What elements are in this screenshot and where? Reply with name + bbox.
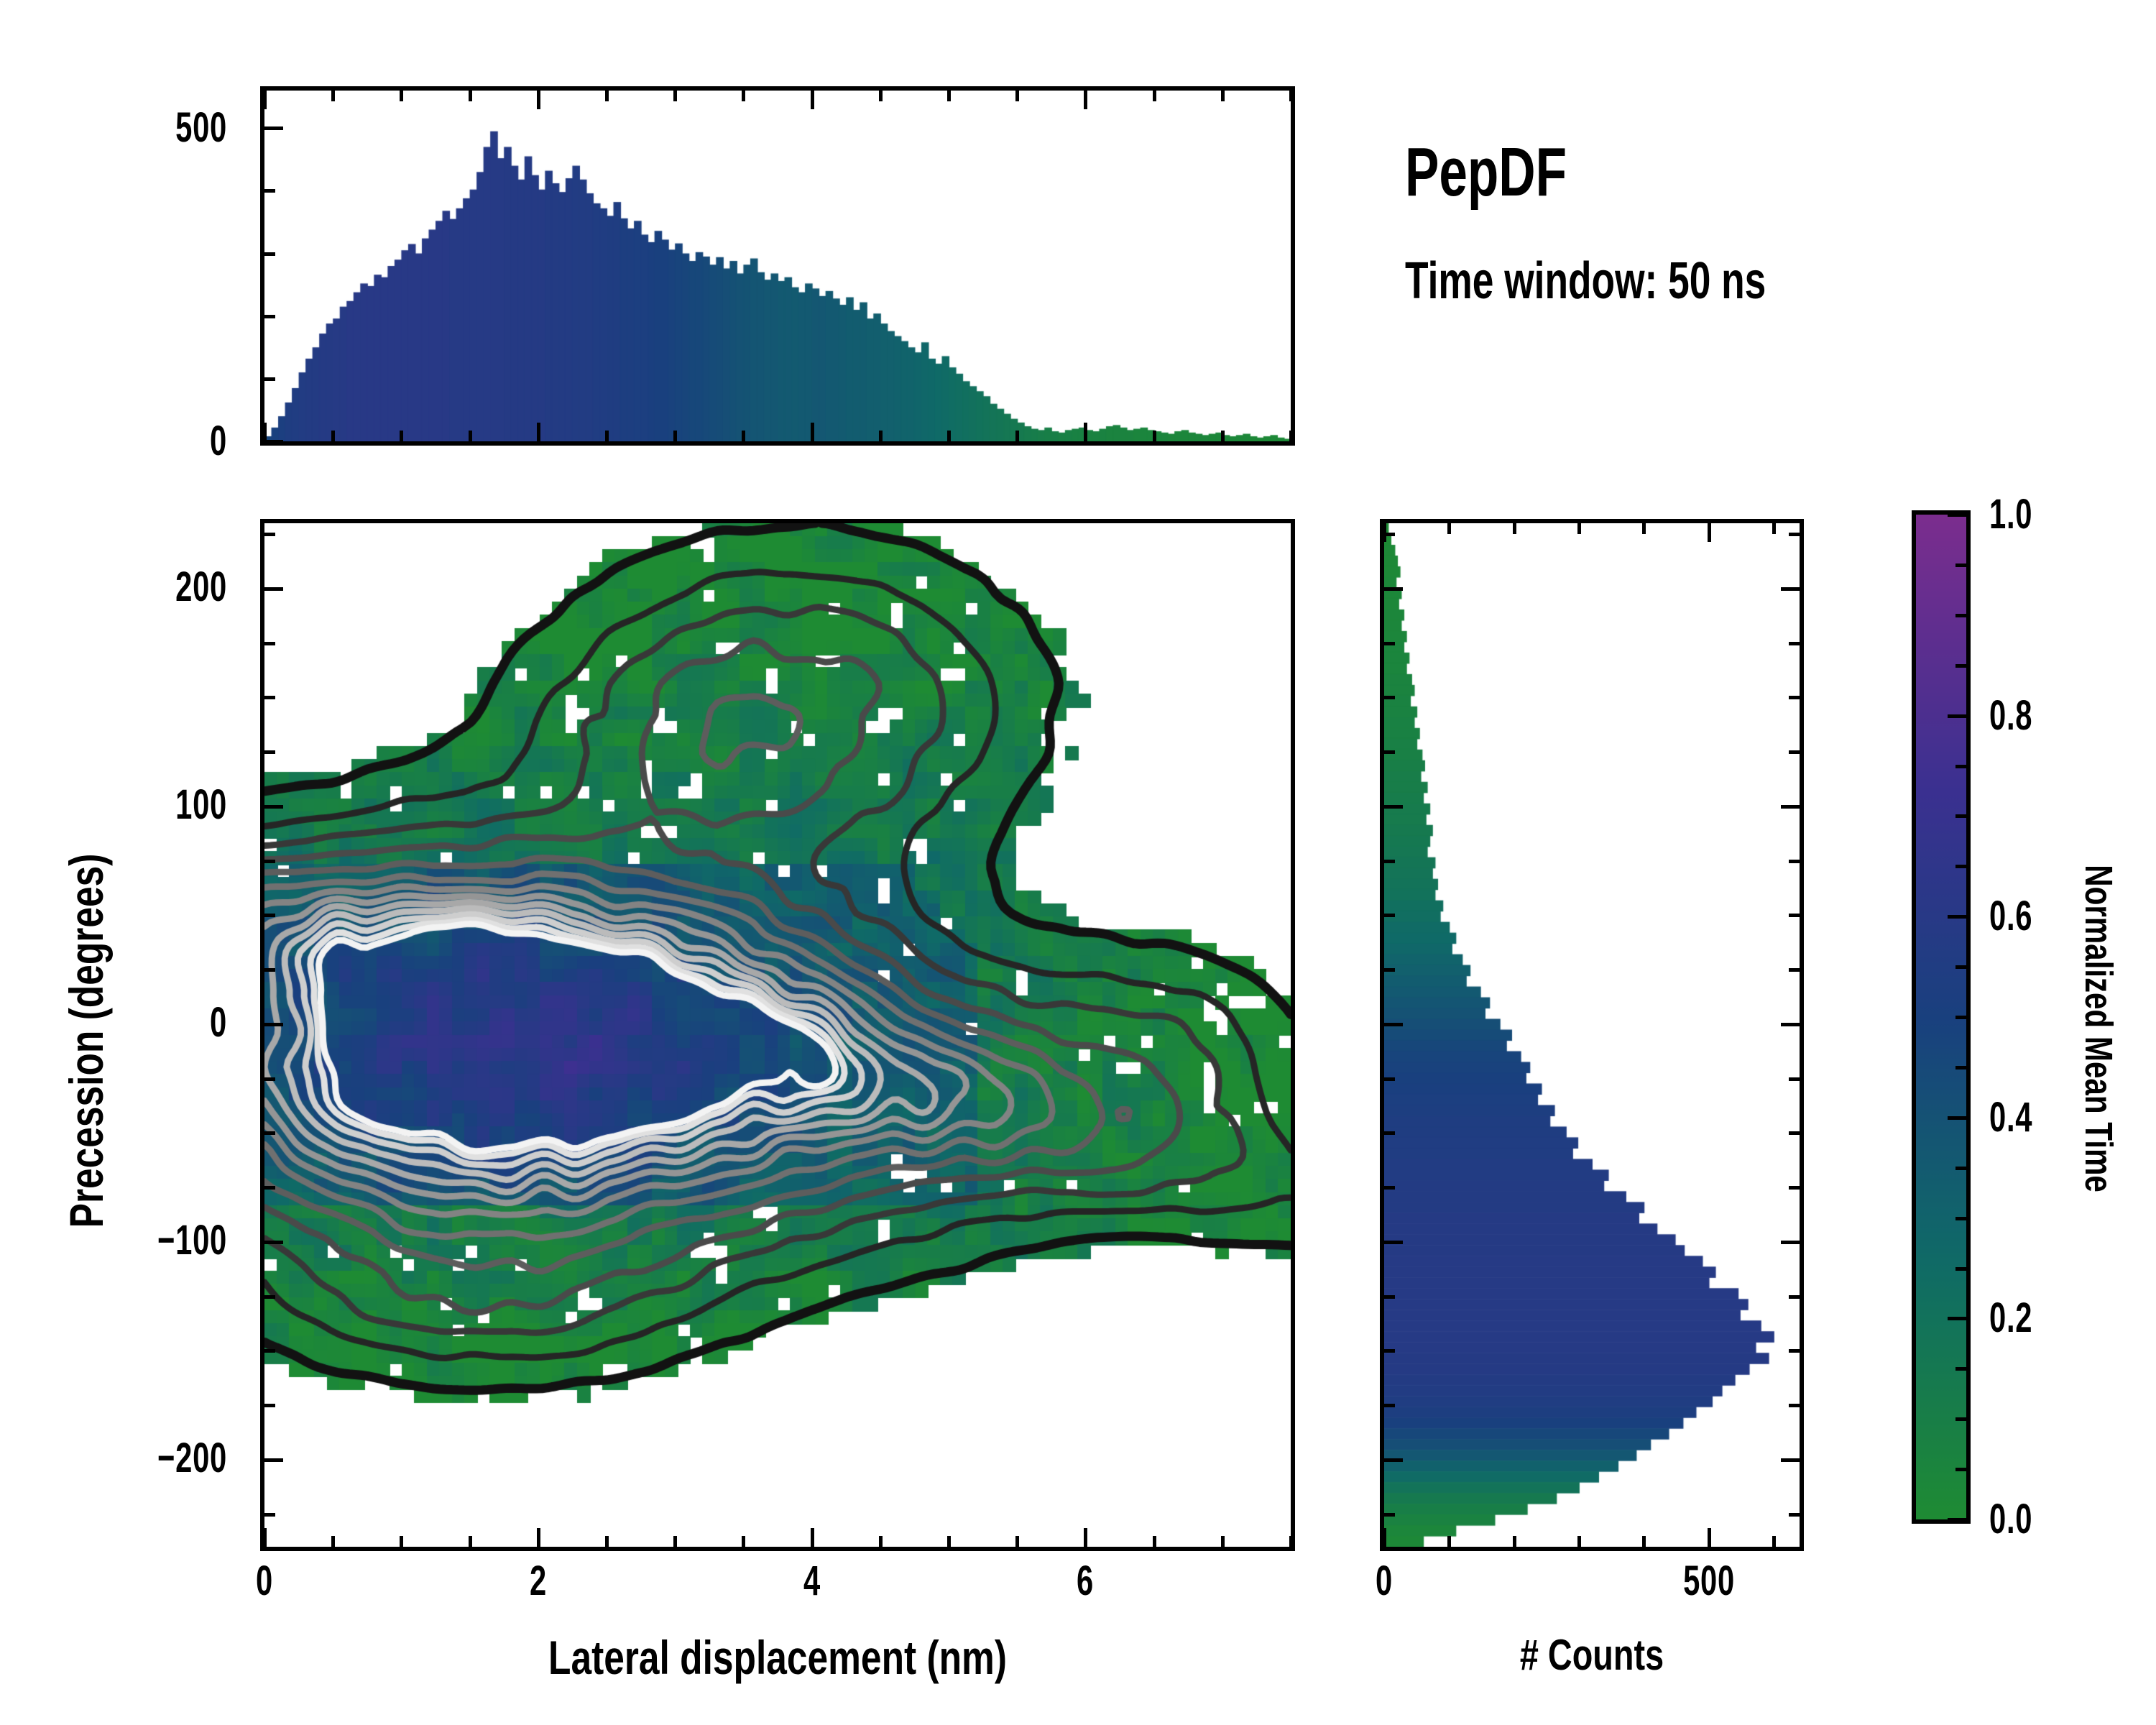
colorbar-minor-tick xyxy=(1955,1367,1966,1371)
top-hist-x-minor-tick xyxy=(1289,431,1293,441)
colorbar-minor-tick xyxy=(1955,765,1966,768)
right-hist-x-minor-tick xyxy=(1447,523,1451,534)
right-hist-y-minor-tick xyxy=(1384,1349,1395,1353)
y-axis-minor-tick xyxy=(264,1077,275,1081)
figure-canvas: 0500 # Counts 0246−200−1000100200 Latera… xyxy=(0,0,2156,1725)
right-hist-x-minor-tick xyxy=(1772,523,1776,534)
right-hist-y-minor-tick xyxy=(1781,587,1800,591)
top-hist-x-major-tick xyxy=(811,423,814,441)
right-hist-x-minor-tick xyxy=(1642,523,1646,534)
top-hist-y-major-tick xyxy=(264,440,283,443)
x-axis-minor-tick xyxy=(400,1536,403,1547)
top-hist-x-major-tick xyxy=(1084,423,1087,441)
right-histogram-plot-area xyxy=(1384,523,1800,1547)
top-marginal-histogram-panel xyxy=(260,86,1295,446)
colorbar-minor-tick xyxy=(1955,1167,1966,1170)
top-hist-x-minor-tick xyxy=(1221,431,1225,441)
right-hist-y-minor-tick xyxy=(1789,696,1800,699)
right-hist-x-tick-label: 0 xyxy=(1322,1557,1447,1605)
colorbar-minor-tick xyxy=(1955,1066,1966,1069)
x-axis-major-tick xyxy=(811,1528,814,1547)
top-hist-y-major-tick xyxy=(264,126,283,130)
top-hist-x-minor-tick xyxy=(469,91,472,101)
right-hist-y-minor-tick xyxy=(1384,696,1395,699)
right-hist-y-major-tick xyxy=(1384,805,1403,809)
x-axis-minor-tick xyxy=(742,1536,745,1547)
right-hist-y-minor-tick xyxy=(1384,1513,1395,1517)
y-axis-minor-tick xyxy=(264,696,275,699)
colorbar-minor-tick xyxy=(1955,614,1966,617)
y-axis-tick-label: 200 xyxy=(51,563,227,611)
top-hist-x-minor-tick xyxy=(605,431,609,441)
colorbar-major-tick xyxy=(1948,915,1966,919)
right-hist-y-minor-tick xyxy=(1789,642,1800,645)
right-hist-y-major-tick xyxy=(1384,587,1403,591)
right-hist-x-minor-tick xyxy=(1772,1536,1776,1547)
top-hist-x-minor-tick xyxy=(947,91,951,101)
top-histogram-plot-area xyxy=(264,91,1291,441)
right-hist-y-minor-tick xyxy=(1384,1077,1395,1081)
right-hist-y-minor-tick xyxy=(1789,1404,1800,1407)
top-hist-x-minor-tick xyxy=(1015,91,1019,101)
colorbar-minor-tick xyxy=(1955,965,1966,969)
top-hist-x-minor-tick xyxy=(400,431,403,441)
x-axis-minor-tick xyxy=(1221,1536,1225,1547)
right-hist-y-minor-tick xyxy=(1781,1241,1800,1244)
right-hist-y-minor-tick xyxy=(1781,805,1800,809)
right-hist-x-minor-tick xyxy=(1577,523,1581,534)
y-axis-major-tick xyxy=(264,805,283,809)
right-hist-y-major-tick xyxy=(1384,1458,1403,1462)
right-hist-x-minor-tick xyxy=(1447,1536,1451,1547)
y-axis-minor-tick xyxy=(264,642,275,645)
y-axis-major-tick xyxy=(264,587,283,591)
y-axis-minor-tick xyxy=(264,968,275,972)
y-axis-minor-tick xyxy=(264,1349,275,1353)
top-hist-x-minor-tick xyxy=(673,431,677,441)
main-y-axis-title: Precession (degrees) xyxy=(59,637,114,1444)
top-hist-x-minor-tick xyxy=(742,91,745,101)
y-axis-minor-tick xyxy=(264,1513,275,1517)
right-hist-y-minor-tick xyxy=(1781,1023,1800,1026)
y-axis-minor-tick xyxy=(264,914,275,917)
x-axis-major-tick xyxy=(537,1528,540,1547)
y-axis-minor-tick xyxy=(264,1131,275,1135)
top-hist-x-minor-tick xyxy=(1289,91,1293,101)
x-axis-minor-tick xyxy=(331,1536,335,1547)
top-hist-x-major-tick xyxy=(263,423,267,441)
y-axis-minor-tick xyxy=(264,1186,275,1190)
colorbar-minor-tick xyxy=(1955,865,1966,868)
colorbar-tick-label: 0.0 xyxy=(1989,1495,2156,1543)
right-hist-y-minor-tick xyxy=(1384,1295,1395,1299)
top-hist-y-tick-label: 500 xyxy=(51,103,227,152)
colorbar-major-tick xyxy=(1948,1116,1966,1120)
colorbar-tick-label: 0.2 xyxy=(1989,1294,2156,1342)
right-hist-y-minor-tick xyxy=(1384,1404,1395,1407)
top-hist-x-minor-tick xyxy=(947,431,951,441)
plot-subtitle-annotation: Time window: 50 ns xyxy=(1405,252,1766,310)
colorbar-minor-tick xyxy=(1955,814,1966,818)
right-hist-y-minor-tick xyxy=(1789,1186,1800,1190)
colorbar-minor-tick xyxy=(1955,563,1966,567)
y-axis-minor-tick xyxy=(264,1295,275,1299)
colorbar-minor-tick xyxy=(1955,1417,1966,1421)
top-hist-x-minor-tick xyxy=(1153,91,1156,101)
colorbar-tick-label: 0.4 xyxy=(1989,1093,2156,1141)
x-axis-minor-tick xyxy=(879,1536,883,1547)
top-hist-x-major-tick xyxy=(1084,91,1087,109)
colorbar-major-tick xyxy=(1948,1317,1966,1320)
top-hist-x-minor-tick xyxy=(1015,431,1019,441)
y-axis-minor-tick xyxy=(264,750,275,754)
plot-title-annotation: PepDF xyxy=(1405,133,1567,212)
colorbar-tick-label: 0.6 xyxy=(1989,892,2156,940)
top-hist-y-minor-tick xyxy=(264,189,275,193)
colorbar-minor-tick xyxy=(1955,664,1966,668)
right-hist-y-minor-tick xyxy=(1384,1186,1395,1190)
x-axis-minor-tick xyxy=(1289,1536,1293,1547)
right-hist-y-minor-tick xyxy=(1384,968,1395,972)
top-hist-x-minor-tick xyxy=(469,431,472,441)
main-heatmap-panel xyxy=(260,519,1295,1551)
colorbar-major-tick xyxy=(1948,513,1966,517)
top-hist-y-minor-tick xyxy=(264,315,275,318)
right-hist-y-minor-tick xyxy=(1384,860,1395,863)
right-hist-y-minor-tick xyxy=(1789,750,1800,754)
x-axis-major-tick xyxy=(263,1528,267,1547)
x-axis-tick-label: 6 xyxy=(1023,1557,1148,1605)
right-hist-y-minor-tick xyxy=(1789,1077,1800,1081)
colorbar-major-tick xyxy=(1948,1518,1966,1522)
y-axis-minor-tick xyxy=(264,533,275,536)
x-axis-major-tick xyxy=(1084,1528,1087,1547)
x-axis-tick-label: 4 xyxy=(750,1557,874,1605)
top-hist-x-minor-tick xyxy=(742,431,745,441)
top-hist-y-tick-label: 0 xyxy=(51,417,227,465)
main-x-axis-title: Lateral displacement (nm) xyxy=(374,1630,1181,1685)
x-axis-minor-tick xyxy=(469,1536,472,1547)
right-hist-y-minor-tick xyxy=(1789,533,1800,536)
colorbar-axis-title: Normalized Mean Time xyxy=(2076,748,2121,1309)
colorbar-minor-tick xyxy=(1955,1267,1966,1271)
top-hist-x-minor-tick xyxy=(1221,91,1225,101)
right-hist-y-minor-tick xyxy=(1789,968,1800,972)
right-hist-y-minor-tick xyxy=(1384,914,1395,917)
right-hist-y-major-tick xyxy=(1384,1023,1403,1026)
right-histogram-x-axis-title: # Counts xyxy=(1427,1630,1757,1680)
right-hist-x-tick-label: 500 xyxy=(1646,1557,1771,1605)
top-hist-x-minor-tick xyxy=(1153,431,1156,441)
x-axis-tick-label: 2 xyxy=(476,1557,600,1605)
x-axis-tick-label: 0 xyxy=(203,1557,327,1605)
right-hist-y-minor-tick xyxy=(1789,1131,1800,1135)
colorbar-minor-tick xyxy=(1955,1217,1966,1220)
right-marginal-histogram-panel xyxy=(1380,519,1804,1551)
top-hist-x-minor-tick xyxy=(605,91,609,101)
right-hist-y-minor-tick xyxy=(1384,533,1395,536)
top-hist-x-minor-tick xyxy=(331,431,335,441)
top-hist-x-major-tick xyxy=(537,423,540,441)
top-hist-x-minor-tick xyxy=(879,431,883,441)
right-hist-y-minor-tick xyxy=(1789,1513,1800,1517)
y-axis-minor-tick xyxy=(264,860,275,863)
colorbar-minor-tick xyxy=(1955,1016,1966,1019)
top-hist-x-major-tick xyxy=(811,91,814,109)
right-hist-x-minor-tick xyxy=(1513,523,1516,534)
colorbar-tick-label: 0.8 xyxy=(1989,691,2156,740)
top-hist-x-major-tick xyxy=(537,91,540,109)
main-heatmap-plot-area xyxy=(264,523,1291,1547)
y-axis-major-tick xyxy=(264,1458,283,1462)
colorbar-major-tick xyxy=(1948,714,1966,718)
right-hist-x-minor-tick xyxy=(1577,1536,1581,1547)
right-hist-y-minor-tick xyxy=(1789,1349,1800,1353)
y-axis-major-tick xyxy=(264,1023,283,1026)
x-axis-minor-tick xyxy=(1153,1536,1156,1547)
colorbar-tick-label: 1.0 xyxy=(1989,490,2156,538)
top-hist-x-minor-tick xyxy=(331,91,335,101)
right-hist-y-minor-tick xyxy=(1789,1295,1800,1299)
x-axis-minor-tick xyxy=(1015,1536,1019,1547)
y-axis-major-tick xyxy=(264,1241,283,1244)
right-hist-y-minor-tick xyxy=(1384,642,1395,645)
right-hist-x-minor-tick xyxy=(1513,1536,1516,1547)
right-hist-y-minor-tick xyxy=(1789,914,1800,917)
colorbar-minor-tick xyxy=(1955,1468,1966,1471)
right-hist-y-minor-tick xyxy=(1781,1458,1800,1462)
right-hist-y-minor-tick xyxy=(1789,860,1800,863)
right-hist-x-major-tick xyxy=(1708,1528,1711,1547)
right-hist-x-major-tick xyxy=(1708,523,1711,542)
x-axis-minor-tick xyxy=(947,1536,951,1547)
top-hist-x-minor-tick xyxy=(400,91,403,101)
x-axis-minor-tick xyxy=(605,1536,609,1547)
top-hist-x-minor-tick xyxy=(879,91,883,101)
top-hist-x-minor-tick xyxy=(673,91,677,101)
right-hist-y-minor-tick xyxy=(1384,750,1395,754)
right-hist-x-minor-tick xyxy=(1642,1536,1646,1547)
right-hist-y-major-tick xyxy=(1384,1241,1403,1244)
x-axis-minor-tick xyxy=(673,1536,677,1547)
right-hist-y-minor-tick xyxy=(1384,1131,1395,1135)
right-hist-x-major-tick xyxy=(1383,1528,1386,1547)
top-hist-x-major-tick xyxy=(263,91,267,109)
top-hist-y-minor-tick xyxy=(264,252,275,256)
top-hist-y-minor-tick xyxy=(264,377,275,381)
y-axis-minor-tick xyxy=(264,1404,275,1407)
